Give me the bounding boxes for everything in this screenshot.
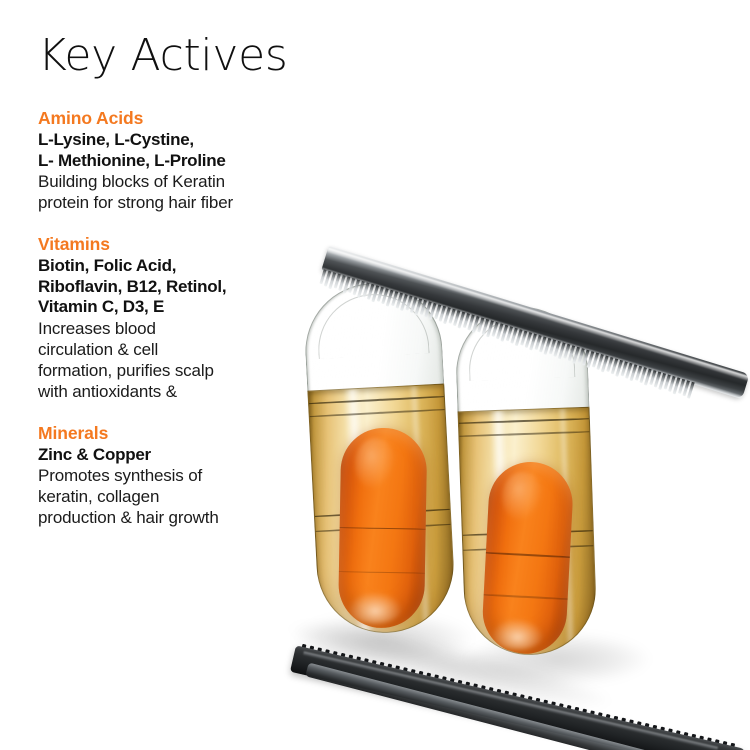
section-heading: Amino Acids bbox=[38, 108, 338, 129]
capsule-right-tablet bbox=[481, 460, 575, 656]
capsule-right-band-2 bbox=[458, 431, 595, 437]
section-body-line: circulation & cell bbox=[38, 339, 338, 360]
section-body-line: Building blocks of Keratin bbox=[38, 171, 338, 192]
capsule-left-tablet-seam-2 bbox=[338, 571, 427, 574]
sections-list: Amino AcidsL-Lysine, L-Cystine,L- Methio… bbox=[38, 108, 338, 528]
tweezer-arm-bottom bbox=[290, 645, 746, 750]
page-title: Key Actives bbox=[38, 30, 338, 82]
section-subtitle-line: Zinc & Copper bbox=[38, 445, 338, 466]
section-body-line: protein for strong hair fiber bbox=[38, 192, 338, 213]
section-subtitle-line: Riboflavin, B12, Retinol, bbox=[38, 277, 338, 298]
section-subtitle-line: Vitamin C, D3, E bbox=[38, 297, 338, 318]
capsule-left-tablet-seam-1 bbox=[338, 527, 427, 530]
capsule-right-band-1 bbox=[458, 418, 595, 424]
tweezer-arm-bottom-body bbox=[290, 645, 746, 750]
section-body-line: with antioxidants & bbox=[38, 381, 338, 402]
tweezer-arm-bottom-highlight bbox=[303, 652, 718, 750]
capsule-left-tablet-highlight bbox=[354, 437, 396, 490]
section-body-line: keratin, collagen bbox=[38, 486, 338, 507]
capsule-right-gold-body bbox=[458, 407, 599, 657]
section-body-line: production & hair growth bbox=[38, 507, 338, 528]
capsule-left-tablet bbox=[338, 427, 427, 628]
product-image bbox=[275, 215, 750, 750]
capsule-right-tablet-seam-2 bbox=[481, 594, 573, 600]
section-heading: Vitamins bbox=[38, 234, 338, 255]
section-subtitle-line: Biotin, Folic Acid, bbox=[38, 256, 338, 277]
section-heading: Minerals bbox=[38, 423, 338, 444]
key-actives-text-column: Key Actives Amino AcidsL-Lysine, L-Cysti… bbox=[38, 30, 338, 528]
section-body-line: Promotes synthesis of bbox=[38, 465, 338, 486]
capsule-right-tablet-highlight bbox=[501, 470, 544, 522]
section-subtitle-line: L-Lysine, L-Cystine, bbox=[38, 130, 338, 151]
section-minerals: MineralsZinc & CopperPromotes synthesis … bbox=[38, 423, 338, 529]
section-subtitle-line: L- Methionine, L-Proline bbox=[38, 151, 338, 172]
capsule-right-tablet-seam-1 bbox=[481, 552, 575, 558]
section-body-line: Increases blood bbox=[38, 318, 338, 339]
capsule-left-tablet-foot bbox=[348, 591, 402, 624]
section-vitamins: VitaminsBiotin, Folic Acid,Riboflavin, B… bbox=[38, 234, 338, 402]
section-amino-acids: Amino AcidsL-Lysine, L-Cystine,L- Methio… bbox=[38, 108, 338, 213]
section-body-line: formation, purifies scalp bbox=[38, 360, 338, 381]
poster-canvas: Key Actives Amino AcidsL-Lysine, L-Cysti… bbox=[0, 0, 750, 750]
